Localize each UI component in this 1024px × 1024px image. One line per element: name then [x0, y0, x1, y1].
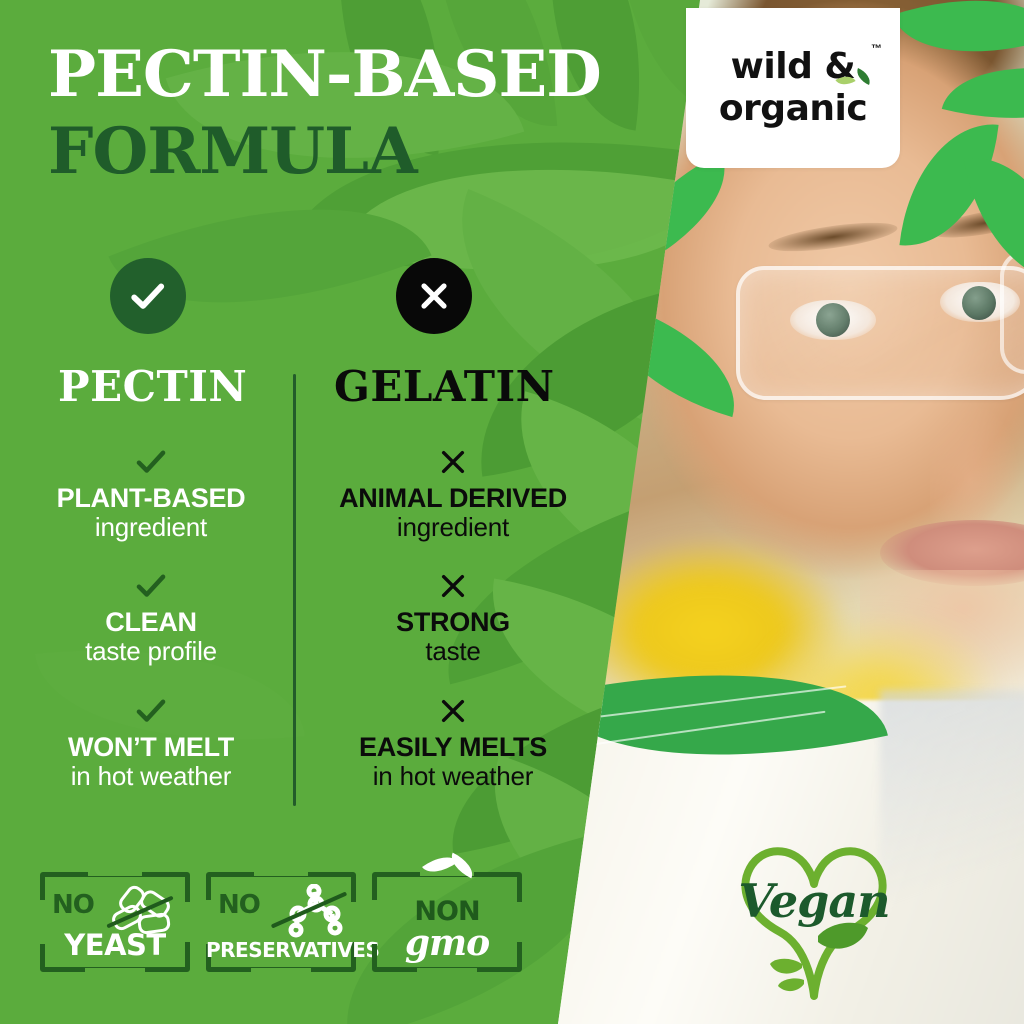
- title-line-1: PECTIN-BASED: [48, 44, 688, 107]
- logo-line1: wild &: [698, 49, 888, 85]
- item-subtitle: ingredient: [16, 513, 286, 542]
- item-title: CLEAN: [16, 608, 286, 637]
- check-icon: [16, 440, 286, 484]
- badge-non-gmo: NON gmo: [372, 872, 522, 972]
- list-item: ANIMAL DERIVED ingredient: [318, 440, 588, 542]
- title-line-2: FORMULA: [48, 121, 688, 184]
- page-title: PECTIN-BASED FORMULA: [48, 44, 688, 183]
- item-subtitle: taste profile: [16, 637, 286, 666]
- item-title: WON’T MELT: [16, 733, 286, 762]
- cross-icon: [318, 689, 588, 733]
- pectin-benefits-list: PLANT-BASED ingredient CLEAN taste profi…: [16, 440, 286, 807]
- logo-line2: organic: [698, 91, 888, 127]
- vegan-label: Vegan: [714, 874, 914, 928]
- brand-logo[interactable]: wild & organic ™: [686, 8, 900, 168]
- item-subtitle: in hot weather: [16, 762, 286, 791]
- item-title: STRONG: [318, 608, 588, 637]
- safety-glasses: [736, 266, 1024, 400]
- gelatin-drawbacks-list: ANIMAL DERIVED ingredient STRONG taste E…: [318, 440, 588, 807]
- vegan-badge: Vegan: [714, 828, 914, 1004]
- badge-no-preservatives: NO PRESERVATIVES: [206, 872, 356, 972]
- list-item: EASILY MELTS in hot weather: [318, 689, 588, 791]
- column-heading-pectin: PECTIN: [58, 362, 242, 411]
- item-subtitle: in hot weather: [318, 762, 588, 791]
- badge-word: PRESERVATIVES: [206, 938, 356, 962]
- check-icon: [16, 564, 286, 608]
- list-item: STRONG taste: [318, 564, 588, 666]
- badge-prefix: NO: [52, 890, 94, 920]
- badge-word: gmo: [372, 922, 522, 964]
- trademark-symbol: ™: [871, 43, 882, 55]
- column-divider: [293, 374, 296, 806]
- badge-prefix: NO: [218, 890, 260, 920]
- list-item: CLEAN taste profile: [16, 564, 286, 666]
- item-title: PLANT-BASED: [16, 484, 286, 513]
- safety-glasses-right-lens: [1000, 250, 1024, 374]
- item-title: EASILY MELTS: [318, 733, 588, 762]
- infographic-canvas: wild & organic ™ PECTIN-BASED FORMULA PE…: [0, 0, 1024, 1024]
- cross-icon: [318, 564, 588, 608]
- check-icon: [16, 689, 286, 733]
- x-circle-icon: [396, 258, 472, 334]
- check-circle-icon: [110, 258, 186, 334]
- list-item: WON’T MELT in hot weather: [16, 689, 286, 791]
- item-title: ANIMAL DERIVED: [318, 484, 588, 513]
- item-subtitle: taste: [318, 637, 588, 666]
- item-subtitle: ingredient: [318, 513, 588, 542]
- badge-no-yeast: NO YEAST: [40, 872, 190, 972]
- cross-icon: [318, 440, 588, 484]
- column-heading-gelatin: GELATIN: [334, 362, 554, 411]
- badge-word: YEAST: [40, 928, 190, 962]
- list-item: PLANT-BASED ingredient: [16, 440, 286, 542]
